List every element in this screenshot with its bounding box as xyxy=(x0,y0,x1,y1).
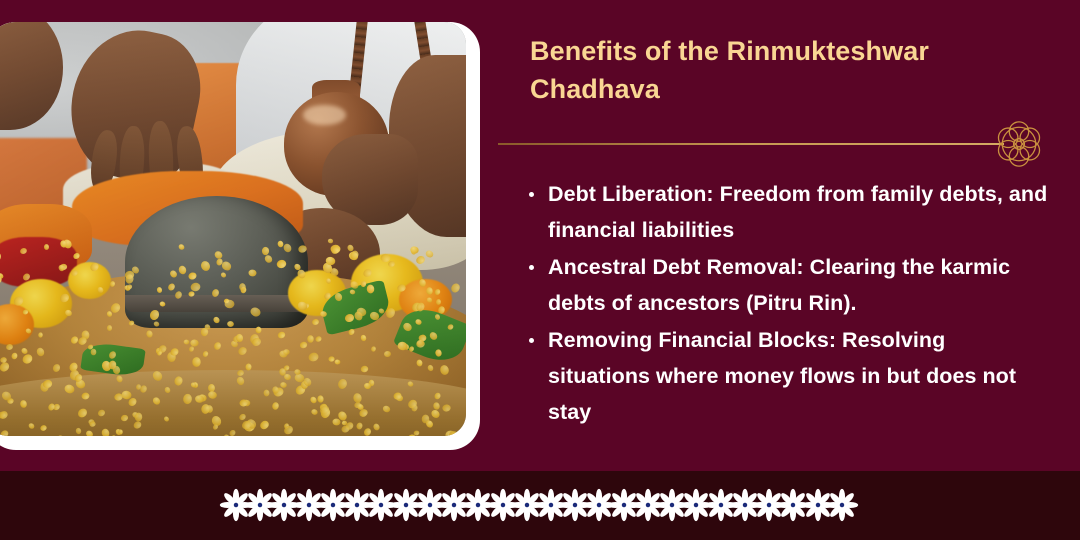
lentil-grain xyxy=(449,282,461,294)
lentil-grain xyxy=(51,363,61,373)
lentil-grain xyxy=(169,347,180,357)
lentil-grain xyxy=(188,291,195,297)
lentil-grain xyxy=(0,250,3,263)
lentil-grain xyxy=(434,348,442,356)
lentil-grain xyxy=(237,369,245,376)
lentil-grain xyxy=(426,287,433,295)
lentil-grain xyxy=(153,321,160,328)
lentil-grain xyxy=(283,349,290,355)
lentil-grain xyxy=(264,254,274,265)
lentil-grain xyxy=(89,422,95,427)
content-column: Benefits of the Rinmukteshwar Chadhava xyxy=(498,0,1080,540)
list-item: Removing Financial Blocks: Resolving sit… xyxy=(512,322,1052,430)
lentil-grain xyxy=(81,392,90,400)
lentil-grain xyxy=(447,324,455,331)
lentil-grain xyxy=(297,245,307,254)
lentil-grain xyxy=(110,435,117,436)
lentil-grain xyxy=(434,288,442,296)
lentil-grain xyxy=(21,353,34,366)
lentil-grain xyxy=(183,394,193,405)
lentil-grain xyxy=(35,347,45,358)
lentil-grain xyxy=(190,339,199,346)
lentil-grain xyxy=(208,390,218,399)
lentil-grain xyxy=(396,283,406,292)
flower-border-icon xyxy=(225,488,855,524)
lentil-grain xyxy=(264,389,270,396)
lentil-grain xyxy=(157,286,163,293)
lentil-grain xyxy=(11,352,19,360)
lentil-grain xyxy=(296,268,307,280)
lentil-grain xyxy=(63,383,75,394)
lentil-grain xyxy=(421,414,429,423)
lentil-grain xyxy=(442,404,451,412)
lentil-grain xyxy=(22,309,29,315)
lentil-grain xyxy=(248,269,257,277)
lentil-grain xyxy=(97,286,105,294)
lentil-grain xyxy=(64,308,73,317)
lentil-grain xyxy=(426,297,433,304)
lentil-grain xyxy=(107,350,117,360)
lentil-grain xyxy=(183,339,189,345)
lentil-grain xyxy=(227,321,235,328)
lentil-grain xyxy=(220,271,227,278)
lentil-grain xyxy=(228,429,236,436)
lentil-grain xyxy=(277,331,286,340)
lentil-grain xyxy=(149,308,161,321)
lentil-grain xyxy=(20,400,28,409)
lentil-grain xyxy=(199,260,211,273)
lentil-grain xyxy=(58,292,70,304)
lentil-grain xyxy=(323,292,332,301)
lentil-grain xyxy=(107,325,112,331)
benefits-list: Debt Liberation: Freedom from family deb… xyxy=(512,176,1052,431)
lentil-grain xyxy=(310,409,318,417)
lentil-grain xyxy=(168,269,178,279)
lentil-grain xyxy=(355,422,363,430)
lentil-grain xyxy=(360,366,369,374)
lentil-grain xyxy=(91,349,97,356)
lentil-grain xyxy=(214,250,225,261)
lentil-grain xyxy=(164,386,172,394)
lentil-grain xyxy=(320,311,327,318)
lentil-grain xyxy=(337,378,349,390)
lentil-grain xyxy=(434,392,442,401)
lentil-grain xyxy=(382,405,391,414)
lentil-grain xyxy=(315,335,323,342)
lentil-grain xyxy=(307,335,314,343)
lentil-grain xyxy=(132,420,142,430)
lentil-grain xyxy=(70,269,79,277)
lentil-grain xyxy=(75,428,82,435)
lentil-grain xyxy=(220,259,233,272)
lentil-grain xyxy=(151,370,164,383)
lentil-grain xyxy=(402,322,414,334)
lentil-grain xyxy=(128,320,135,326)
lentil-grain xyxy=(282,242,292,253)
lentil-grain xyxy=(276,259,287,269)
lentil-grain xyxy=(12,295,25,308)
lentil-grain xyxy=(363,382,371,390)
lentil-grain xyxy=(272,401,280,410)
lentil-grain xyxy=(43,244,48,250)
mandala-rosette-icon xyxy=(992,117,1046,171)
lentil-grain xyxy=(249,306,262,318)
lentil-grain xyxy=(118,429,123,434)
lentil-grain xyxy=(6,344,14,351)
lentil-grain xyxy=(72,252,81,261)
lentil-grain xyxy=(430,409,441,420)
slide-root: Benefits of the Rinmukteshwar Chadhava xyxy=(0,0,1080,540)
lentil-grain xyxy=(309,395,318,404)
lentil-grain xyxy=(439,364,450,376)
flower-icon xyxy=(825,488,859,522)
lentil-grain xyxy=(251,337,263,348)
lentil-grain xyxy=(213,341,222,351)
lentil-grain xyxy=(259,419,271,431)
lentil-grain xyxy=(410,246,419,254)
lentil-grain xyxy=(135,412,143,421)
lentil-grain xyxy=(384,351,391,357)
lentil-grain xyxy=(237,345,248,356)
lentil-grain xyxy=(333,292,343,302)
lentil-grain xyxy=(378,308,385,315)
list-item: Debt Liberation: Freedom from family deb… xyxy=(512,176,1052,248)
lentil-grain xyxy=(415,254,426,265)
lentil-grain xyxy=(449,431,459,436)
lentil-grain xyxy=(39,424,47,431)
lentil-grain xyxy=(388,260,396,267)
lentil-grain xyxy=(371,346,377,353)
page-title: Benefits of the Rinmukteshwar Chadhava xyxy=(530,32,1030,109)
lentil-grain xyxy=(372,422,380,431)
lentil-grain xyxy=(308,352,320,363)
divider xyxy=(498,143,1080,145)
lentil-grain xyxy=(347,328,355,336)
lentil-grain xyxy=(22,272,32,282)
lentil-grain xyxy=(76,406,89,419)
lentil-grain xyxy=(416,360,423,368)
lentil-grain xyxy=(115,375,123,383)
lentil-grain xyxy=(332,418,341,426)
lentil-grain xyxy=(245,364,251,371)
lentil-grain xyxy=(178,265,188,275)
lentil-grain xyxy=(109,281,115,288)
lentil-grain xyxy=(362,268,373,279)
lentil-grain xyxy=(101,428,110,436)
lentil-grain xyxy=(385,307,397,320)
lentil-grain xyxy=(262,247,269,256)
lentil-grain xyxy=(256,327,262,334)
lentil-grain xyxy=(0,429,9,436)
lentil-grain xyxy=(211,288,220,298)
lentil-grain xyxy=(352,393,362,404)
lentil-grain xyxy=(317,395,324,402)
footer-band xyxy=(0,471,1080,540)
lentil-grain xyxy=(334,359,340,365)
lentil-grain xyxy=(360,335,367,343)
lentil-grain xyxy=(177,243,185,251)
lentil-grain xyxy=(299,341,308,349)
lentil-grain xyxy=(89,261,101,273)
lentil-grain xyxy=(426,364,433,372)
lentil-grain xyxy=(0,410,9,421)
lentil-grain xyxy=(312,318,320,325)
lentil-grain xyxy=(57,435,64,436)
lentil-grain xyxy=(437,305,446,314)
lentil-grain xyxy=(235,376,245,386)
lentil-grain xyxy=(358,408,369,419)
lentil-grain xyxy=(349,290,355,296)
lentil-grain xyxy=(192,357,201,367)
lentil-grain xyxy=(174,291,183,301)
lentil-grain xyxy=(173,376,183,387)
lentil-grain xyxy=(163,415,170,422)
list-item: Ancestral Debt Removal: Clearing the kar… xyxy=(512,249,1052,321)
photo-card xyxy=(0,22,480,450)
lentil-grain xyxy=(0,356,7,362)
lentil-grain xyxy=(359,280,366,288)
lentil-grain xyxy=(85,429,95,436)
yellow-lentils xyxy=(0,237,466,436)
lentil-grain xyxy=(212,315,221,324)
lentil-grain xyxy=(408,345,415,352)
lentil-grain xyxy=(363,427,373,436)
lentil-grain xyxy=(97,409,106,418)
lentil-grain xyxy=(27,422,35,430)
lentil-grain xyxy=(425,249,435,259)
lentil-grain xyxy=(188,271,198,280)
ritual-photo xyxy=(0,22,466,436)
lentil-grain xyxy=(25,328,32,335)
lentil-grain xyxy=(436,299,441,305)
lentil-grain xyxy=(19,247,27,255)
lentil-grain xyxy=(201,350,208,358)
lentil-grain xyxy=(225,300,235,309)
lentil-grain xyxy=(167,282,176,292)
lentil-grain xyxy=(159,301,166,307)
lentil-grain xyxy=(407,381,414,388)
lentil-grain xyxy=(414,318,422,326)
lentil-grain xyxy=(120,414,129,422)
lentil-grain xyxy=(418,278,426,287)
lentil-grain xyxy=(195,394,204,402)
lentil-grain xyxy=(428,331,439,342)
lentil-grain xyxy=(188,346,195,353)
lentil-grain xyxy=(325,277,332,284)
lentil-grain xyxy=(366,285,374,294)
lentil-grain xyxy=(327,238,333,244)
lentil-grain xyxy=(434,313,441,320)
lentil-grain xyxy=(145,330,153,338)
lentil-grain xyxy=(151,396,161,406)
lentil-grain xyxy=(38,332,43,338)
divider-line xyxy=(498,143,1004,145)
